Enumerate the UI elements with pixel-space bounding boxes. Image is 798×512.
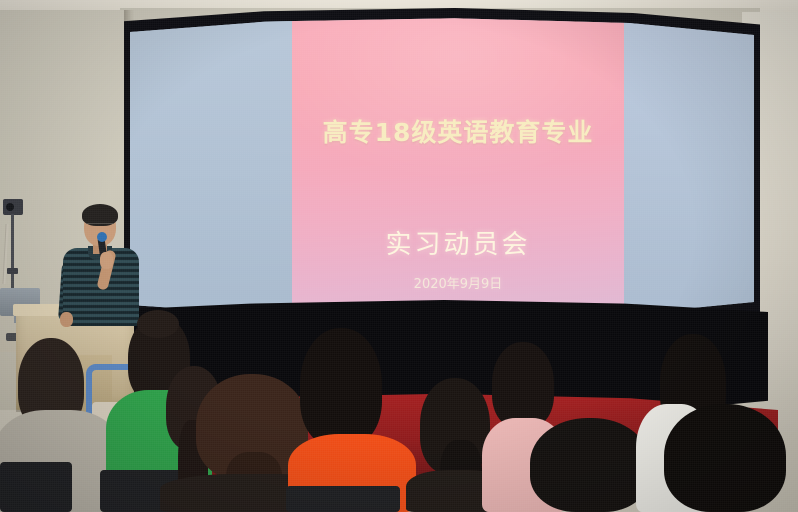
projection-screen: 高专18级英语教育专业 实习动员会 2020年9月9日 xyxy=(124,8,760,338)
screen-surface: 高专18级英语教育专业 实习动员会 2020年9月9日 xyxy=(130,17,754,317)
hair xyxy=(664,404,786,512)
chair-back xyxy=(0,462,72,512)
hair-bun xyxy=(137,310,179,338)
projected-slide: 高专18级英语教育专业 实习动员会 2020年9月9日 xyxy=(292,17,624,317)
screen-unlit-right-band xyxy=(624,17,754,317)
presentation-photo: 高专18级英语教育专业 实习动员会 2020年9月9日 xyxy=(0,0,798,512)
speaker-glasses xyxy=(86,223,114,230)
tripod-knob xyxy=(7,268,18,274)
microphone-head-icon xyxy=(97,232,107,242)
hair xyxy=(530,418,650,512)
speaker-other-hand xyxy=(60,312,73,327)
slide-date: 2020年9月9日 xyxy=(292,273,624,292)
hair xyxy=(300,328,382,446)
camera-lens-icon xyxy=(6,203,14,211)
screen-unlit-left-band xyxy=(130,17,292,317)
slide-title: 高专18级英语教育专业 xyxy=(292,113,624,149)
projector-glow xyxy=(292,17,624,182)
chair-back xyxy=(286,486,400,512)
speaker-hand xyxy=(100,252,113,269)
slide-subtitle: 实习动员会 xyxy=(292,224,624,261)
hair xyxy=(492,342,554,428)
